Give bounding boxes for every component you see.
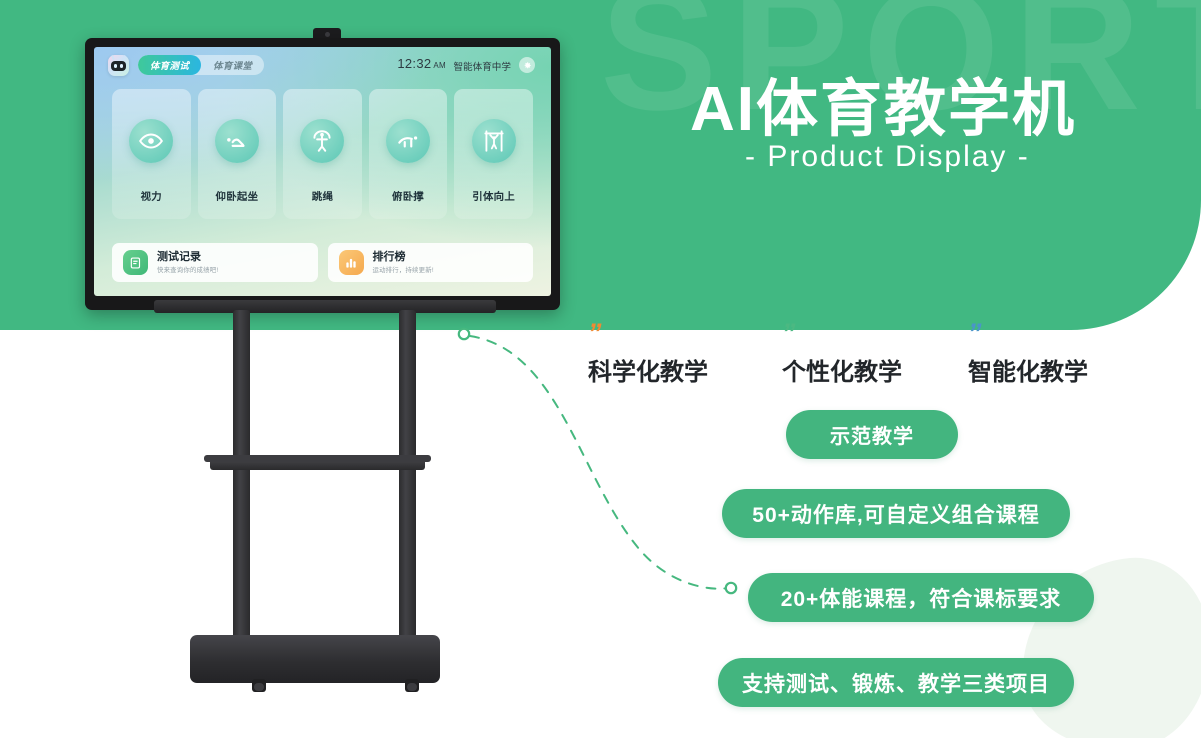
test-card-situp[interactable]: 仰卧起坐	[198, 89, 277, 219]
screen-tabs: 体育测试 体育课堂	[138, 55, 264, 75]
stand-post-right	[399, 310, 416, 645]
shortcut-card-title: 测试记录	[157, 251, 218, 264]
clock-meridiem: AM	[433, 61, 446, 70]
test-card-label: 仰卧起坐	[216, 188, 259, 203]
pill-fitness-courses[interactable]: 20+体能课程，符合课标要求	[748, 573, 1094, 622]
feature-scientific: ” 科学化教学	[588, 324, 708, 387]
pill-action-library[interactable]: 50+动作库,可自定义组合课程	[722, 489, 1070, 538]
eye-icon	[129, 119, 173, 163]
shortcut-card-title: 排行榜	[373, 251, 434, 264]
bar-chart-icon	[339, 250, 364, 275]
shortcut-card-records[interactable]: 测试记录 快来查询你的成绩吧!	[112, 243, 318, 282]
robot-icon	[108, 55, 129, 76]
shortcut-card-leaderboard[interactable]: 排行榜 运动排行，持续更新!	[328, 243, 534, 282]
stand-post-left	[233, 310, 250, 645]
tab-sports-test[interactable]: 体育测试	[138, 55, 201, 75]
poster-canvas: SPORTS AI体育教学机 - Product Display - 体育测试 …	[0, 0, 1201, 738]
test-card-list: 视力 仰卧起坐 跳绳	[112, 89, 533, 219]
device-screen[interactable]: 体育测试 体育课堂 12:32AM 智能体育中学 视	[94, 47, 551, 296]
mobile-stand	[150, 300, 500, 720]
caster-wheel	[252, 679, 266, 692]
sit-up-icon	[215, 119, 259, 163]
test-card-label: 跳绳	[312, 188, 333, 203]
test-card-label: 俯卧撑	[392, 188, 424, 203]
feature-label: 科学化教学	[588, 352, 708, 387]
school-name: 智能体育中学	[453, 59, 511, 73]
pull-up-icon	[472, 119, 516, 163]
quote-mark-icon: ”	[782, 324, 902, 343]
page-subtitle: - Product Display -	[745, 140, 1030, 174]
feature-label: 智能化教学	[968, 352, 1088, 387]
tab-sports-class[interactable]: 体育课堂	[201, 55, 264, 75]
quote-mark-icon: ”	[968, 324, 1088, 343]
jump-rope-icon	[300, 119, 344, 163]
gear-icon[interactable]	[519, 57, 535, 73]
test-card-vision[interactable]: 视力	[112, 89, 191, 219]
record-list-icon	[123, 250, 148, 275]
test-card-label: 引体向上	[472, 188, 515, 203]
pill-demo-teaching[interactable]: 示范教学	[786, 410, 958, 459]
caster-wheel	[405, 679, 419, 692]
device-bezel: 体育测试 体育课堂 12:32AM 智能体育中学 视	[85, 38, 560, 310]
clock-time: 12:32	[397, 56, 431, 71]
clock: 12:32AM	[397, 56, 446, 71]
page-title: AI体育教学机	[690, 58, 1076, 148]
stand-shelf	[210, 458, 425, 470]
test-card-label: 视力	[141, 188, 162, 203]
shortcut-card-subtitle: 快来查询你的成绩吧!	[157, 265, 218, 274]
feature-personalized: ” 个性化教学	[782, 324, 902, 387]
test-card-jumprope[interactable]: 跳绳	[283, 89, 362, 219]
shortcut-card-list: 测试记录 快来查询你的成绩吧! 排行榜 运动排行，持续更新!	[112, 243, 533, 282]
display-device: 体育测试 体育课堂 12:32AM 智能体育中学 视	[85, 38, 560, 310]
pill-three-categories[interactable]: 支持测试、锻炼、教学三类项目	[718, 658, 1074, 707]
test-card-pushup[interactable]: 俯卧撑	[369, 89, 448, 219]
stand-base	[190, 635, 440, 683]
push-up-icon	[386, 119, 430, 163]
feature-intelligent: ” 智能化教学	[968, 324, 1088, 387]
feature-label: 个性化教学	[782, 352, 902, 387]
test-card-pullup[interactable]: 引体向上	[454, 89, 533, 219]
stand-top-bar	[154, 300, 496, 313]
screen-topbar: 体育测试 体育课堂 12:32AM 智能体育中学	[94, 47, 551, 81]
quote-mark-icon: ”	[588, 324, 708, 343]
shortcut-card-subtitle: 运动排行，持续更新!	[373, 265, 434, 274]
